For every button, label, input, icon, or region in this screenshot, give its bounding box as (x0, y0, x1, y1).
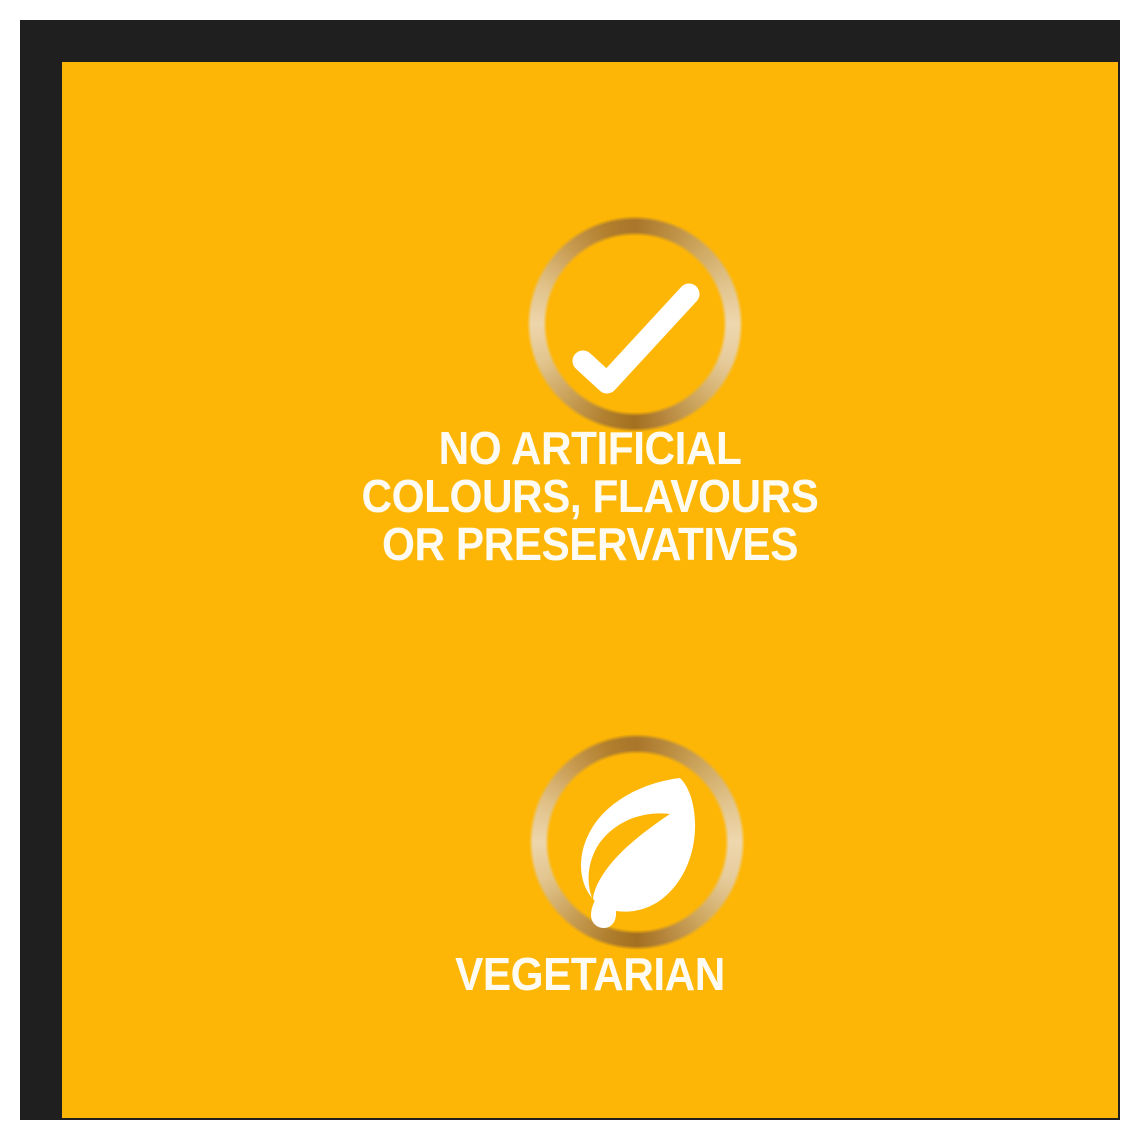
checkmark-icon (527, 216, 743, 432)
caption-vegetarian: VEGETARIAN (104, 950, 1076, 998)
badge-vegetarian (529, 734, 745, 950)
leaf-icon (529, 734, 745, 950)
caption-no-artificial: NO ARTIFICIAL COLOURS, FLAVOURS OR PRESE… (104, 424, 1076, 568)
panel-border: NO ARTIFICIAL COLOURS, FLAVOURS OR PRESE… (20, 20, 1120, 1120)
product-claims-panel: NO ARTIFICIAL COLOURS, FLAVOURS OR PRESE… (0, 0, 1140, 1140)
panel-canvas: NO ARTIFICIAL COLOURS, FLAVOURS OR PRESE… (62, 62, 1118, 1118)
badge-no-artificial (527, 216, 743, 432)
